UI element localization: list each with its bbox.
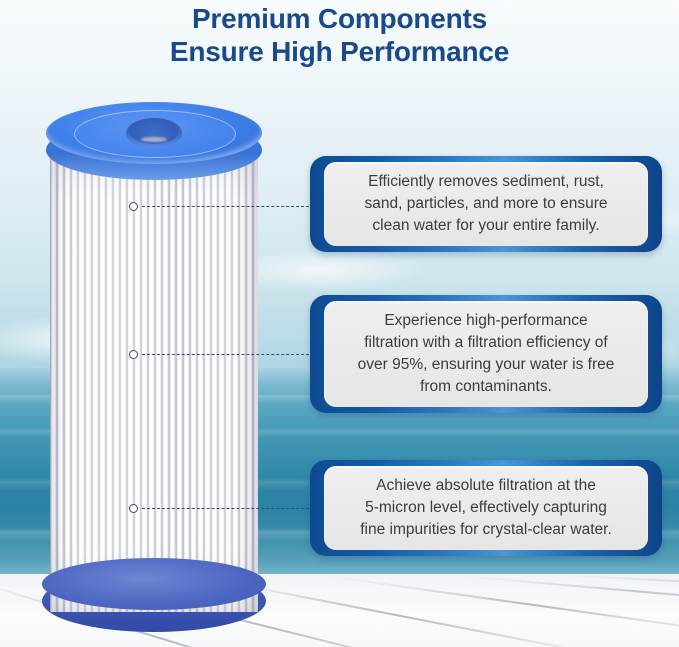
connector-line-3 [142, 508, 314, 510]
callout-filtration-efficiency[interactable]: Experience high-performance filtration w… [310, 295, 662, 413]
title-line-2: Ensure High Performance [0, 35, 679, 68]
connector-node-2 [129, 350, 138, 359]
connector-node-1 [129, 202, 138, 211]
callout-text-2: Experience high-performance filtration w… [350, 310, 623, 398]
callout-sediment-removal[interactable]: Efficiently removes sediment, rust, sand… [310, 156, 662, 252]
callout-text-3: Achieve absolute filtration at the 5-mic… [352, 475, 620, 541]
product-infographic: Premium Components Ensure High Performan… [0, 0, 679, 647]
title-line-1: Premium Components [192, 3, 487, 34]
connector-line-2 [142, 354, 314, 356]
filter-bottom-cap [42, 558, 266, 610]
callout-panel-2: Experience high-performance filtration w… [324, 301, 648, 407]
connector-node-3 [129, 504, 138, 513]
filter-pleated-body [50, 152, 258, 612]
callout-panel-3: Achieve absolute filtration at the 5-mic… [324, 466, 648, 550]
callout-micron-rating[interactable]: Achieve absolute filtration at the 5-mic… [310, 460, 662, 556]
callout-panel-1: Efficiently removes sediment, rust, sand… [324, 162, 648, 246]
connector-line-1 [142, 206, 314, 208]
filter-center-hole-glint [141, 137, 167, 142]
water-filter-cartridge [38, 96, 270, 642]
callout-text-1: Efficiently removes sediment, rust, sand… [357, 171, 616, 237]
page-title: Premium Components Ensure High Performan… [0, 2, 679, 68]
